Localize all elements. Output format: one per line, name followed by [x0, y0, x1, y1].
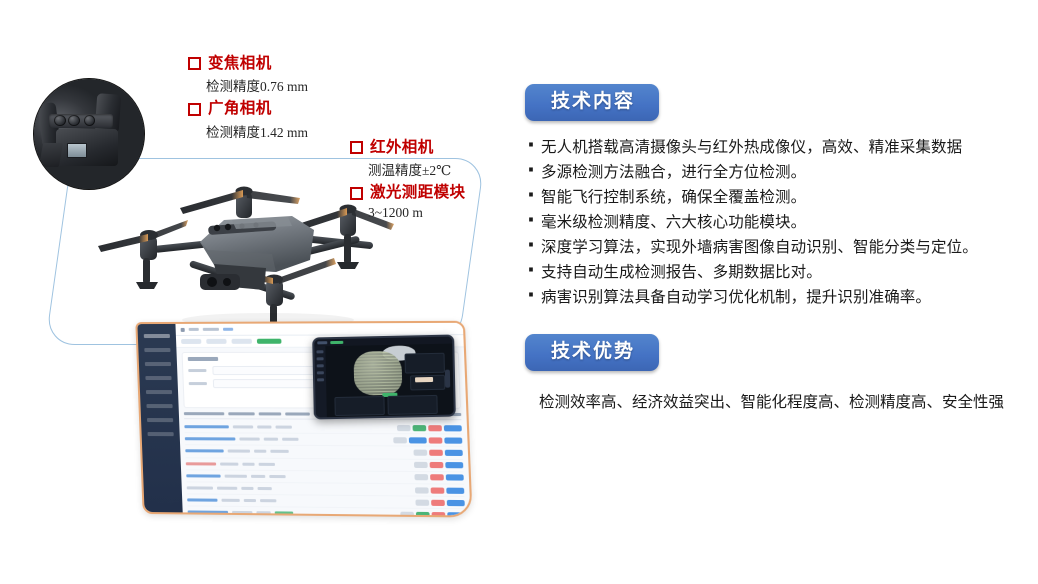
- sidebar-item[interactable]: [145, 362, 171, 366]
- defect-marker-icon: [415, 377, 433, 383]
- toolbar-chip-active[interactable]: [330, 341, 343, 344]
- tab-item[interactable]: [206, 339, 226, 344]
- sidebar-item[interactable]: [148, 432, 174, 436]
- list-item: 深度学习算法，实现外墙病害图像自动识别、智能分类与定位。: [525, 235, 1015, 260]
- list-item: 无人机搭载高清摄像头与红外热成像仪，高效、精准采集数据: [525, 135, 1015, 160]
- spec-sub-text: 检测精度0.76 mm: [206, 75, 348, 95]
- video-thumb[interactable]: [404, 352, 445, 373]
- list-item: 毫米级检测精度、六大核心功能模块。: [525, 210, 1015, 235]
- tab-item[interactable]: [181, 339, 201, 344]
- camera-payload-photo: [33, 78, 145, 190]
- video-thumb[interactable]: [387, 395, 438, 415]
- layer-item[interactable]: [316, 350, 323, 353]
- video-scrollbar[interactable]: [445, 369, 450, 388]
- payload-lens-icon: [84, 115, 95, 126]
- dashboard-topbar: [175, 323, 463, 336]
- layer-item[interactable]: [317, 357, 324, 360]
- breadcrumb: [189, 328, 199, 331]
- sidebar-item[interactable]: [146, 404, 172, 408]
- payload-body: [56, 129, 118, 166]
- toolbar-chip[interactable]: [317, 341, 327, 344]
- tech-advantage-text: 检测效率高、经济效益突出、智能化程度高、检测精度高、安全性强: [525, 387, 1009, 418]
- breadcrumb-current: [223, 328, 233, 331]
- spec-title-text: 广角相机: [208, 99, 272, 118]
- payload-grip: [38, 143, 62, 167]
- sidebar-item[interactable]: [144, 348, 170, 352]
- video-stage: [325, 344, 453, 418]
- filter-input[interactable]: [212, 366, 316, 375]
- video-viewer-panel[interactable]: [312, 335, 456, 420]
- layer-item[interactable]: [317, 364, 324, 367]
- dashboard-table: [184, 412, 467, 517]
- field-label: [189, 382, 207, 385]
- payload-screen: [67, 143, 87, 158]
- list-item: 多源检测方法融合，进行全方位检测。: [525, 160, 1015, 185]
- sidebar-item[interactable]: [146, 390, 172, 394]
- dashboard-mockup: [139, 322, 461, 514]
- breadcrumb: [203, 328, 219, 331]
- tech-content-badge: 技术内容: [525, 84, 659, 121]
- sidebar-item[interactable]: [145, 376, 171, 380]
- primary-action-button[interactable]: [257, 339, 282, 344]
- layer-item[interactable]: [317, 378, 324, 381]
- tab-item[interactable]: [231, 339, 251, 344]
- spec-title-row: 广角相机: [188, 99, 348, 118]
- drone-illustration: [96, 168, 426, 333]
- spec-item-wide-camera: 广角相机 检测精度1.42 mm: [188, 99, 348, 140]
- tech-advantage-badge: 技术优势: [525, 334, 659, 371]
- menu-icon[interactable]: [181, 327, 185, 331]
- spec-title-row: 红外相机: [350, 138, 510, 157]
- camera-payload-image: [34, 79, 144, 189]
- tech-content-list: 无人机搭载高清摄像头与红外热成像仪，高效、精准采集数据 多源检测方法融合，进行全…: [525, 135, 1015, 310]
- spec-column-left: 变焦相机 检测精度0.76 mm 广角相机 检测精度1.42 mm: [188, 54, 348, 145]
- tech-advantage-section: 技术优势 检测效率高、经济效益突出、智能化程度高、检测精度高、安全性强: [525, 334, 1015, 418]
- filter-input[interactable]: [213, 379, 317, 388]
- drone-photo: [96, 168, 426, 333]
- spec-item-zoom-camera: 变焦相机 检测精度0.76 mm: [188, 54, 348, 95]
- red-square-marker-icon: [350, 141, 363, 154]
- column-header[interactable]: [285, 412, 310, 415]
- column-header[interactable]: [184, 412, 224, 415]
- spec-sub-text: 检测精度1.42 mm: [206, 121, 348, 141]
- spec-title-row: 变焦相机: [188, 54, 348, 73]
- spec-title-text: 变焦相机: [208, 54, 272, 73]
- red-square-marker-icon: [188, 103, 201, 116]
- layer-item[interactable]: [317, 371, 324, 374]
- list-item: 支持自动生成检测报告、多期数据比对。: [525, 260, 1015, 285]
- red-square-marker-icon: [188, 57, 201, 70]
- table-row[interactable]: [187, 507, 465, 518]
- list-item: 病害识别算法具备自动学习优化机制，提升识别准确率。: [525, 285, 1015, 310]
- column-header[interactable]: [228, 412, 254, 415]
- card-title: [188, 357, 218, 361]
- slide-root: 变焦相机 检测精度0.76 mm 广角相机 检测精度1.42 mm 红外相机 测…: [0, 0, 1038, 584]
- content-panel: 技术内容 无人机搭载高清摄像头与红外热成像仪，高效、精准采集数据 多源检测方法融…: [525, 84, 1015, 418]
- sidebar-item[interactable]: [144, 334, 170, 338]
- column-header[interactable]: [259, 412, 282, 415]
- tech-content-section: 技术内容 无人机搭载高清摄像头与红外热成像仪，高效、精准采集数据 多源检测方法融…: [525, 84, 1015, 310]
- spec-title-text: 红外相机: [370, 138, 434, 157]
- list-item: 智能飞行控制系统，确保全覆盖检测。: [525, 185, 1015, 210]
- building-3d-model: [353, 350, 402, 395]
- sidebar-item[interactable]: [147, 418, 173, 422]
- field-label: [188, 369, 206, 372]
- video-thumb[interactable]: [334, 396, 385, 416]
